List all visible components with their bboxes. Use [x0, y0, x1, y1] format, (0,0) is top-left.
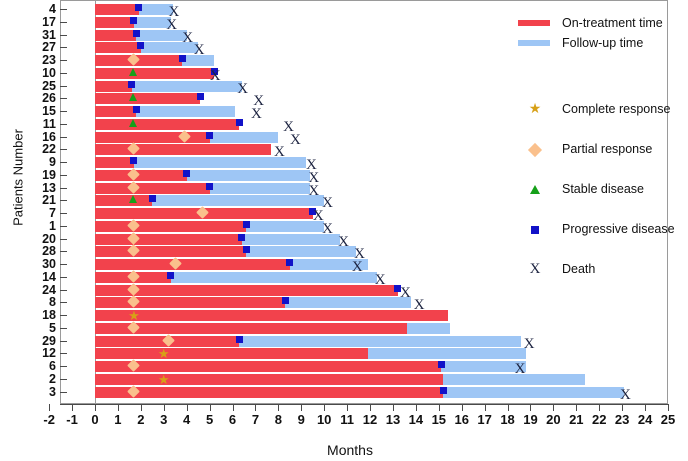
progressive-disease-marker	[243, 221, 250, 228]
progressive-disease-marker	[206, 132, 213, 139]
legend-item-stable-disease: Stable disease	[514, 180, 686, 198]
y-tick	[60, 188, 67, 189]
y-tick	[60, 251, 67, 252]
progressive-disease-marker	[286, 259, 293, 266]
x-tick	[599, 404, 600, 411]
follow-up-segment	[134, 157, 306, 168]
patient-bar-row	[95, 387, 624, 398]
on-treatment-segment	[95, 68, 214, 79]
x-tick-label: 25	[653, 412, 683, 427]
y-tick	[60, 35, 67, 36]
death-marker: X	[236, 81, 250, 97]
y-tick	[60, 353, 67, 354]
x-axis-line	[60, 404, 669, 405]
follow-up-segment	[368, 348, 526, 359]
legend: On-treatment timeFollow-up time★Complete…	[514, 2, 686, 284]
patient-bar-row	[95, 336, 521, 347]
on-treatment-segment	[95, 387, 443, 398]
patient-bar-row	[95, 68, 214, 79]
progressive-disease-marker	[438, 361, 445, 368]
on-treatment-segment	[95, 221, 246, 232]
patient-bar-row	[95, 297, 411, 308]
x-tick	[255, 404, 256, 411]
y-tick-label: 24	[18, 285, 56, 295]
progressive-disease-marker	[133, 106, 140, 113]
x-tick	[324, 404, 325, 411]
follow-up-segment	[132, 81, 242, 92]
patient-bar-row	[95, 93, 200, 104]
on-treatment-segment	[95, 297, 285, 308]
y-tick	[60, 379, 67, 380]
patient-bar-row	[95, 42, 198, 53]
y-tick	[60, 47, 67, 48]
on-treatment-segment	[95, 30, 136, 41]
y-tick	[60, 290, 67, 291]
y-tick	[60, 366, 67, 367]
y-tick-label: 25	[18, 81, 56, 91]
patient-bar-row	[95, 323, 450, 334]
stable-disease-marker	[129, 93, 137, 101]
y-tick	[60, 73, 67, 74]
on-treatment-segment	[95, 234, 242, 245]
follow-up-segment	[246, 221, 324, 232]
patient-bar-row	[95, 310, 448, 321]
patient-bar-row	[95, 361, 526, 372]
y-tick	[60, 86, 67, 87]
x-tick	[278, 404, 279, 411]
follow-up-segment	[141, 42, 198, 53]
swimmer-plot-figure: 4173127231025261511162291913217120283014…	[0, 0, 688, 461]
y-tick	[60, 239, 67, 240]
x-tick	[370, 404, 371, 411]
y-tick-label: 3	[18, 387, 56, 397]
x-tick	[462, 404, 463, 411]
follow-up-segment	[136, 106, 235, 117]
follow-up-segment	[210, 132, 279, 143]
legend-label: Stable disease	[562, 180, 644, 198]
on-treatment-segment	[95, 285, 398, 296]
y-tick-label: 29	[18, 336, 56, 346]
on-treatment-segment	[95, 183, 210, 194]
on-treatment-segment	[95, 246, 246, 257]
x-tick	[530, 404, 531, 411]
x-tick	[164, 404, 165, 411]
y-tick	[60, 22, 67, 23]
on-treatment-segment	[95, 195, 152, 206]
follow-up-time-swatch	[518, 40, 550, 46]
stable-disease-marker	[129, 195, 137, 203]
patient-bar-row	[95, 119, 239, 130]
x-tick	[416, 404, 417, 411]
follow-up-segment	[171, 272, 377, 283]
y-tick-label: 2	[18, 374, 56, 384]
progressive-disease-marker	[243, 246, 250, 253]
on-treatment-segment	[95, 374, 443, 385]
on-treatment-segment	[95, 119, 239, 130]
follow-up-segment	[182, 55, 214, 66]
legend-label: Complete response	[562, 100, 670, 118]
x-axis-title: Months	[280, 442, 420, 458]
x-tick	[187, 404, 188, 411]
x-tick	[210, 404, 211, 411]
death-marker: X	[288, 132, 302, 148]
on-treatment-segment	[95, 361, 441, 372]
x-tick	[622, 404, 623, 411]
stable-disease-icon	[530, 185, 540, 194]
patient-bar-row	[95, 30, 187, 41]
on-treatment-segment	[95, 323, 407, 334]
on-treatment-segment	[95, 81, 132, 92]
on-treatment-segment	[95, 348, 368, 359]
legend-item-progressive-disease: Progressive disease	[514, 220, 686, 238]
progressive-disease-marker	[179, 55, 186, 62]
death-marker: X	[618, 387, 632, 403]
legend-label: Partial response	[562, 140, 652, 158]
y-tick-label: 4	[18, 4, 56, 14]
progressive-disease-marker	[238, 234, 245, 241]
y-tick	[60, 328, 67, 329]
y-axis-title: Patients Number	[11, 118, 26, 238]
on-treatment-segment	[95, 259, 290, 270]
on-treatment-segment	[95, 132, 210, 143]
y-tick-label: 23	[18, 55, 56, 65]
follow-up-segment	[407, 323, 451, 334]
y-tick-label: 30	[18, 259, 56, 269]
follow-up-segment	[136, 30, 186, 41]
patient-bar-row	[95, 55, 214, 66]
progressive-disease-marker	[130, 157, 137, 164]
x-tick	[347, 404, 348, 411]
x-tick	[141, 404, 142, 411]
x-tick	[72, 404, 73, 411]
y-tick	[60, 302, 67, 303]
partial-response-icon	[528, 143, 542, 157]
progressive-disease-marker	[167, 272, 174, 279]
legend-label: Follow-up time	[562, 34, 643, 52]
x-tick	[95, 404, 96, 411]
y-tick-label: 18	[18, 310, 56, 320]
y-tick	[60, 392, 67, 393]
follow-up-segment	[285, 297, 411, 308]
y-tick	[60, 264, 67, 265]
y-tick-label: 15	[18, 106, 56, 116]
on-treatment-segment	[95, 4, 139, 15]
on-treatment-segment	[95, 106, 136, 117]
progressive-disease-marker	[236, 119, 243, 126]
progressive-disease-marker	[133, 30, 140, 37]
x-tick	[645, 404, 646, 411]
progressive-disease-marker	[236, 336, 243, 343]
follow-up-segment	[246, 246, 356, 257]
x-tick	[576, 404, 577, 411]
y-tick	[60, 200, 67, 201]
legend-item-on-treatment-time: On-treatment time	[514, 14, 686, 32]
y-tick	[60, 111, 67, 112]
progressive-disease-marker	[440, 387, 447, 394]
y-tick	[60, 213, 67, 214]
legend-item-follow-up-time: Follow-up time	[514, 34, 686, 52]
progressive-disease-marker	[135, 4, 142, 11]
death-marker: X	[249, 106, 263, 122]
y-tick-label: 31	[18, 30, 56, 40]
y-tick-label: 28	[18, 246, 56, 256]
progressive-disease-marker	[149, 195, 156, 202]
patient-bar-row	[95, 106, 235, 117]
legend-label: Death	[562, 260, 595, 278]
follow-up-segment	[239, 336, 521, 347]
y-tick-label: 5	[18, 323, 56, 333]
y-tick	[60, 341, 67, 342]
y-tick-label: 27	[18, 42, 56, 52]
y-tick	[60, 98, 67, 99]
progressive-disease-icon	[531, 226, 539, 234]
follow-up-segment	[152, 195, 324, 206]
patient-bar-row	[95, 259, 368, 270]
x-tick	[49, 404, 50, 411]
y-tick	[60, 162, 67, 163]
complete-response-marker: ★	[158, 348, 170, 360]
x-tick	[439, 404, 440, 411]
y-tick-label: 14	[18, 272, 56, 282]
stable-disease-marker	[129, 119, 137, 127]
x-tick	[508, 404, 509, 411]
complete-response-marker: ★	[128, 310, 140, 322]
y-tick-label: 26	[18, 93, 56, 103]
complete-response-marker: ★	[158, 374, 170, 386]
progressive-disease-marker	[130, 17, 137, 24]
patient-bar-row	[95, 144, 271, 155]
patient-bar-row	[95, 81, 242, 92]
x-tick	[118, 404, 119, 411]
x-tick	[485, 404, 486, 411]
on-treatment-segment	[95, 310, 448, 321]
follow-up-segment	[443, 374, 585, 385]
y-tick	[60, 149, 67, 150]
patient-bar-row	[95, 285, 398, 296]
x-tick	[301, 404, 302, 411]
y-tick	[60, 124, 67, 125]
death-icon: X	[527, 260, 543, 274]
stable-disease-marker	[129, 68, 137, 76]
on-treatment-segment	[95, 144, 271, 155]
legend-label: On-treatment time	[562, 14, 663, 32]
progressive-disease-marker	[197, 93, 204, 100]
y-tick	[60, 137, 67, 138]
on-treatment-segment	[95, 170, 187, 181]
on-treatment-segment	[95, 157, 134, 168]
legend-item-partial-response: Partial response	[514, 140, 686, 158]
y-tick-label: 8	[18, 297, 56, 307]
y-tick-label: 10	[18, 68, 56, 78]
on-treatment-segment	[95, 93, 200, 104]
follow-up-segment	[187, 170, 311, 181]
progressive-disease-marker	[282, 297, 289, 304]
progressive-disease-marker	[206, 183, 213, 190]
y-tick	[60, 226, 67, 227]
y-tick-label: 12	[18, 348, 56, 358]
complete-response-icon: ★	[528, 99, 542, 113]
y-tick	[60, 9, 67, 10]
progressive-disease-marker	[183, 170, 190, 177]
y-tick	[60, 315, 67, 316]
patient-bar-row	[95, 157, 306, 168]
y-tick-label: 17	[18, 17, 56, 27]
progressive-disease-marker	[128, 81, 135, 88]
follow-up-segment	[443, 387, 624, 398]
x-tick	[553, 404, 554, 411]
on-treatment-segment	[95, 17, 134, 28]
on-treatment-segment	[95, 42, 141, 53]
legend-label: Progressive disease	[562, 220, 675, 238]
x-tick	[233, 404, 234, 411]
y-tick-label: 6	[18, 361, 56, 371]
follow-up-segment	[242, 234, 341, 245]
progressive-disease-marker	[137, 42, 144, 49]
patient-bar-row	[95, 4, 173, 15]
on-treatment-time-swatch	[518, 20, 550, 26]
y-tick	[60, 175, 67, 176]
y-tick	[60, 277, 67, 278]
follow-up-segment	[210, 183, 311, 194]
x-tick	[668, 404, 669, 411]
y-tick	[60, 60, 67, 61]
x-tick	[393, 404, 394, 411]
legend-item-complete-response: ★Complete response	[514, 100, 686, 118]
legend-item-death: XDeath	[514, 260, 686, 278]
